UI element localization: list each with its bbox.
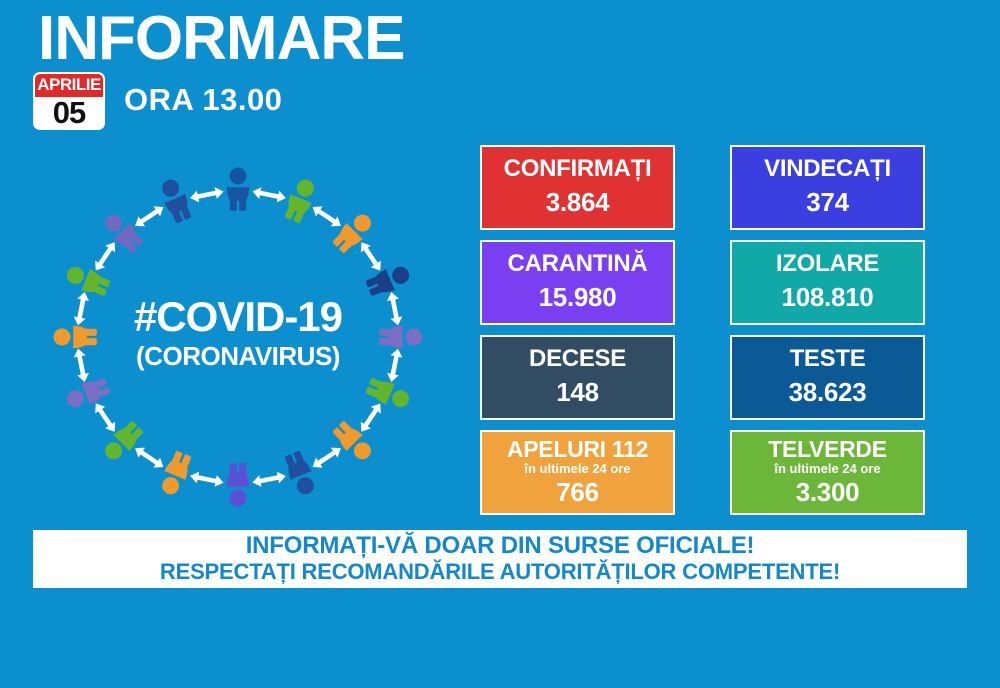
person-figure-icon [100, 418, 146, 464]
double-arrow-icon [385, 291, 403, 327]
page-title: INFORMARE [38, 6, 404, 71]
person-figure-icon [54, 326, 97, 348]
stat-value: 148 [556, 377, 598, 408]
header: INFORMARE APRILIE 05 ORA 13.00 [0, 0, 1000, 140]
person-figure-icon [227, 168, 249, 211]
stat-box-izolare: IZOLARE108.810 [730, 240, 925, 325]
double-arrow-icon [309, 202, 344, 231]
stat-value: 3.864 [546, 187, 610, 218]
stat-box-teste: TESTE38.623 [730, 335, 925, 420]
double-arrow-icon [189, 470, 225, 488]
notice-line-1: INFORMAȚI-VĂ DOAR DIN SURSE OFICIALE! [246, 533, 755, 560]
double-arrow-icon [356, 239, 385, 274]
report-hour-label: ORA 13.00 [124, 82, 282, 118]
stat-value: 38.623 [789, 377, 867, 408]
double-arrow-icon [189, 186, 225, 204]
person-figure-icon [330, 418, 376, 464]
person-figure-icon [227, 463, 249, 506]
stat-box-telverde: TELVERDEîn ultimele 24 ore3.300 [730, 430, 925, 515]
stat-box-confirma-i: CONFIRMAȚI3.864 [480, 145, 675, 230]
footer: GUVERNUL ROMÂNIEI DEPARTAMENTUL PENTRU S… [0, 596, 1000, 688]
double-arrow-icon [309, 443, 344, 472]
stat-label: CARANTINĂ [508, 251, 648, 278]
double-arrow-icon [72, 347, 90, 383]
person-figure-icon [100, 209, 146, 255]
stat-note: în ultimele 24 ore [524, 462, 630, 477]
calendar-date-chip: APRILIE 05 [33, 72, 105, 130]
person-figure-icon [157, 449, 194, 498]
people-circle-icon [28, 155, 448, 520]
double-arrow-icon [251, 470, 287, 488]
stat-value: 766 [556, 477, 598, 508]
person-figure-icon [282, 449, 319, 498]
double-arrow-icon [356, 400, 385, 435]
stat-note: în ultimele 24 ore [774, 462, 880, 477]
person-figure-icon [379, 326, 422, 348]
stat-value: 108.810 [782, 282, 874, 313]
double-arrow-icon [251, 186, 287, 204]
stat-box-carantin: CARANTINĂ15.980 [480, 240, 675, 325]
stat-label: CONFIRMAȚI [504, 156, 652, 183]
stat-label: TELVERDE [768, 437, 887, 463]
person-figure-icon [157, 176, 194, 225]
covid-circle-graphic: #COVID-19 (CORONAVIRUS) [28, 155, 448, 520]
double-arrow-icon [91, 400, 120, 435]
stat-label: DECESE [529, 346, 626, 373]
stat-label: VINDECAȚI [764, 156, 891, 183]
double-arrow-icon [91, 239, 120, 274]
person-figure-icon [282, 176, 319, 225]
stat-box-decese: DECESE148 [480, 335, 675, 420]
calendar-month-label: APRILIE [35, 74, 103, 97]
stat-box-apeluri-112: APELURI 112în ultimele 24 ore766 [480, 430, 675, 515]
double-arrow-icon [72, 291, 90, 327]
stat-label: TESTE [790, 346, 866, 373]
official-sources-notice: INFORMAȚI-VĂ DOAR DIN SURSE OFICIALE! RE… [33, 530, 967, 588]
double-arrow-icon [385, 347, 403, 383]
double-arrow-icon [132, 202, 167, 231]
notice-line-2: RESPECTAȚI RECOMANDĂRILE AUTORITĂȚILOR C… [160, 560, 840, 585]
statistics-grid: CONFIRMAȚI3.864VINDECAȚI374CARANTINĂ15.9… [480, 145, 925, 515]
stat-value: 15.980 [539, 282, 617, 313]
stat-value: 3.300 [796, 477, 860, 508]
stat-label: APELURI 112 [507, 437, 648, 463]
stat-label: IZOLARE [776, 251, 879, 278]
stat-box-vindeca-i: VINDECAȚI374 [730, 145, 925, 230]
calendar-day-label: 05 [35, 97, 103, 128]
stat-value: 374 [806, 187, 848, 218]
person-figure-icon [330, 209, 376, 255]
double-arrow-icon [132, 443, 167, 472]
